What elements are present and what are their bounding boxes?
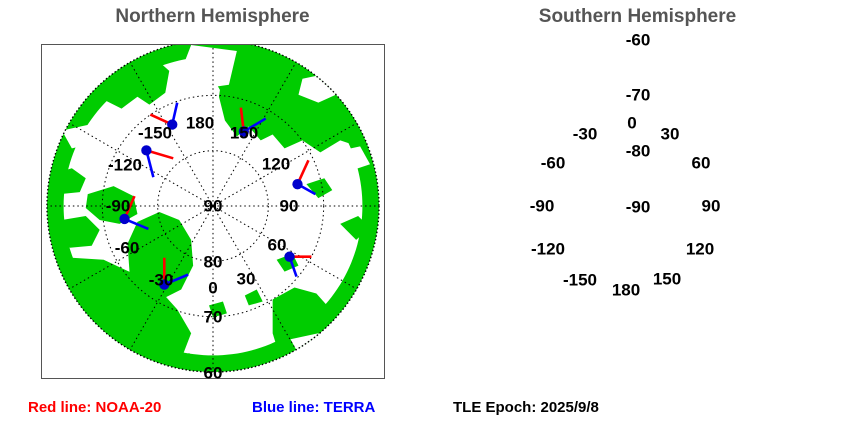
lon-label: 120 bbox=[686, 241, 714, 258]
figure-root: Northern Hemisphere 60708090030609012015… bbox=[0, 0, 850, 425]
lon-label: -60 bbox=[541, 155, 566, 172]
lon-label: 30 bbox=[661, 126, 680, 143]
grid-labels-south: -60-70-80-900306090120150180-150-120-90-… bbox=[0, 0, 850, 425]
lon-label: 90 bbox=[702, 198, 721, 215]
lon-label: -30 bbox=[573, 126, 598, 143]
lon-label: 180 bbox=[612, 282, 640, 299]
legend-blue-line: Blue line: TERRA bbox=[252, 400, 375, 415]
lat-label: -80 bbox=[626, 143, 651, 160]
panel-southern-hemisphere: Southern Hemisphere -60-70-80-9003060901… bbox=[425, 0, 850, 425]
tle-epoch-label: TLE Epoch: 2025/9/8 bbox=[453, 400, 599, 415]
lon-label: 60 bbox=[692, 155, 711, 172]
lat-label: -90 bbox=[626, 199, 651, 216]
lon-label: -150 bbox=[563, 272, 597, 289]
lon-label: 150 bbox=[653, 271, 681, 288]
lon-label: -90 bbox=[530, 198, 555, 215]
lon-label: -120 bbox=[531, 241, 565, 258]
lat-label: -60 bbox=[626, 32, 651, 49]
lat-label: -70 bbox=[626, 87, 651, 104]
lon-label: 0 bbox=[627, 115, 636, 132]
legend-red-line: Red line: NOAA-20 bbox=[28, 400, 161, 415]
